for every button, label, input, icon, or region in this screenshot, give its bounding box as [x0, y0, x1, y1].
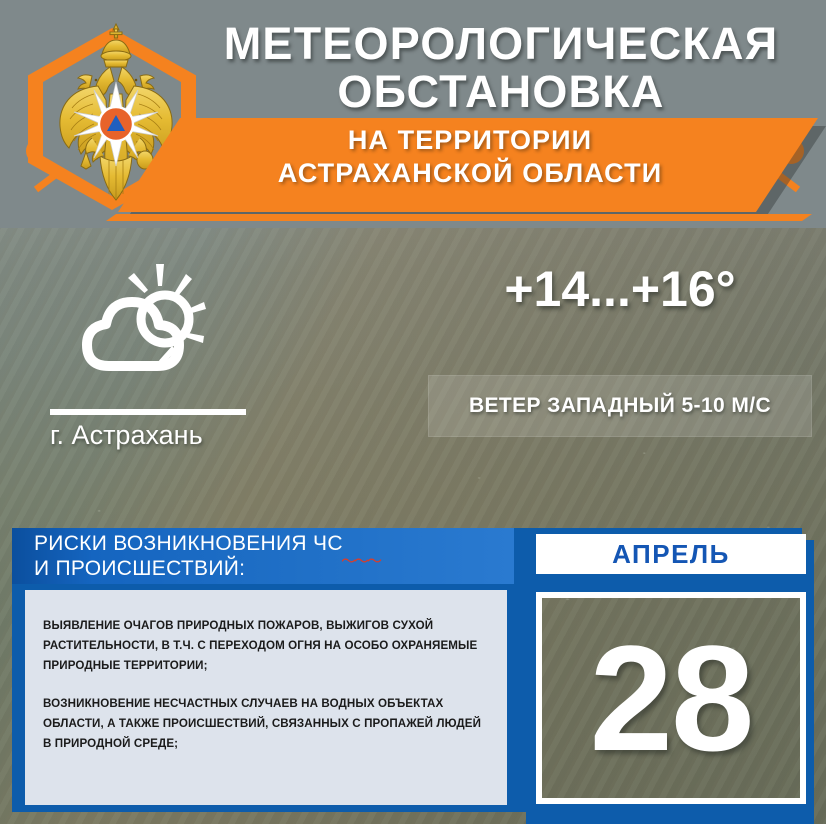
- title-line-1: МЕТЕОРОЛОГИЧЕСКАЯ: [186, 20, 816, 68]
- risks-panel-body: ВЫЯВЛЕНИЕ ОЧАГОВ ПРИРОДНЫХ ПОЖАРОВ, ВЫЖИ…: [12, 584, 514, 812]
- temperature-value: +14...+16°: [420, 260, 820, 318]
- month-bar: АПРЕЛЬ: [536, 534, 806, 574]
- partly-cloudy-icon: [68, 262, 218, 390]
- city-divider: [50, 409, 246, 415]
- weather-poster: МЕТЕОРОЛОГИЧЕСКАЯ ОБСТАНОВКА НА ТЕРРИТОР…: [0, 0, 826, 824]
- date-panel: АПРЕЛЬ 28: [514, 528, 814, 818]
- risks-heading-line-2: И ПРОИСШЕСТВИЙ:: [34, 556, 514, 581]
- risks-heading-line-1: РИСКИ ВОЗНИКНОВЕНИЯ ЧС: [34, 531, 514, 556]
- subtitle-line-2: АСТРАХАНСКОЙ ОБЛАСТИ: [150, 157, 790, 190]
- wind-box: ВЕТЕР ЗАПАДНЫЙ 5-10 М/С: [428, 375, 812, 437]
- day-frame: 28: [536, 592, 806, 804]
- month-label: АПРЕЛЬ: [612, 539, 730, 570]
- subtitle-line-1: НА ТЕРРИТОРИИ: [150, 124, 790, 157]
- wind-label: ВЕТЕР ЗАПАДНЫЙ 5-10 М/С: [469, 394, 771, 418]
- title-line-2: ОБСТАНОВКА: [186, 68, 816, 116]
- risk-item: ВОЗНИКНОВЕНИЕ НЕСЧАСТНЫХ СЛУЧАЕВ НА ВОДН…: [43, 694, 485, 754]
- poster-title: МЕТЕОРОЛОГИЧЕСКАЯ ОБСТАНОВКА: [186, 20, 816, 116]
- city-label: г. Астрахань: [50, 420, 280, 451]
- risks-panel-header: РИСКИ ВОЗНИКНОВЕНИЯ ЧС И ПРОИСШЕСТВИЙ: 〜…: [12, 528, 514, 584]
- header-bar: МЕТЕОРОЛОГИЧЕСКАЯ ОБСТАНОВКА НА ТЕРРИТОР…: [0, 0, 826, 228]
- risks-list: ВЫЯВЛЕНИЕ ОЧАГОВ ПРИРОДНЫХ ПОЖАРОВ, ВЫЖИ…: [25, 590, 507, 805]
- day-number: 28: [590, 623, 753, 773]
- risk-item: ВЫЯВЛЕНИЕ ОЧАГОВ ПРИРОДНЫХ ПОЖАРОВ, ВЫЖИ…: [43, 616, 485, 676]
- subtitle-banner-underline: [106, 214, 812, 221]
- poster-subtitle: НА ТЕРРИТОРИИ АСТРАХАНСКОЙ ОБЛАСТИ: [150, 124, 790, 190]
- risks-panel: РИСКИ ВОЗНИКНОВЕНИЯ ЧС И ПРОИСШЕСТВИЙ: 〜…: [12, 528, 514, 812]
- spellcheck-squiggle-icon: 〜〜〜: [341, 550, 380, 571]
